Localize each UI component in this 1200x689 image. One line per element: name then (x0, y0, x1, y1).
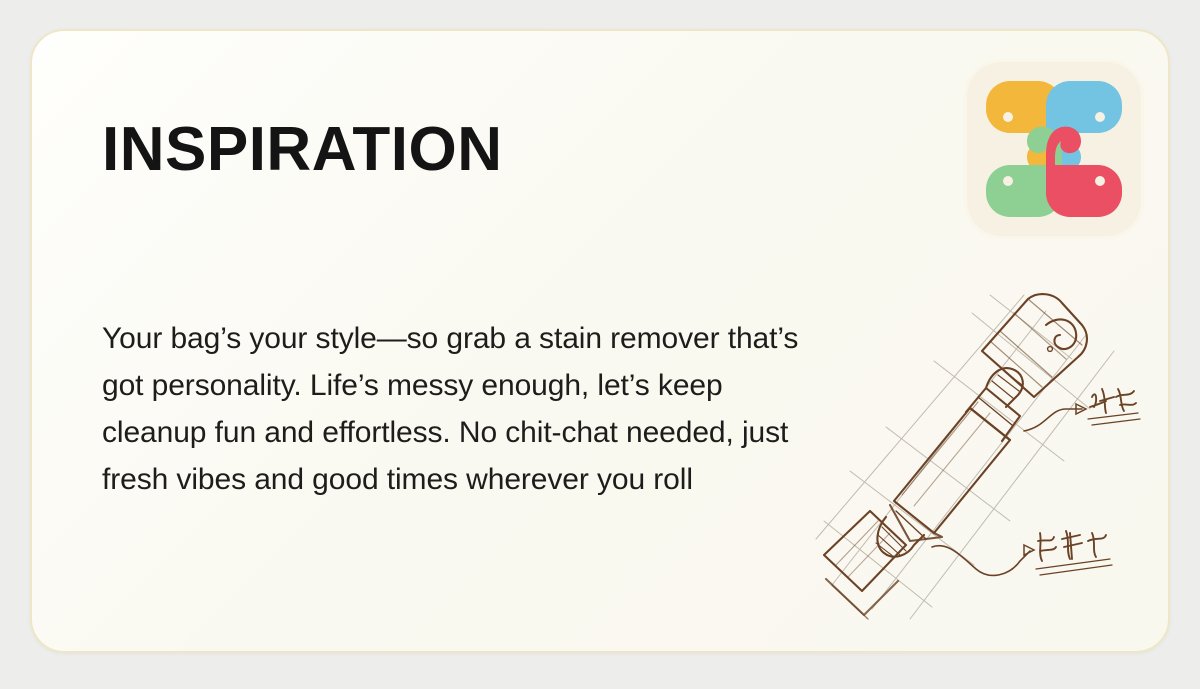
brand-logo (964, 59, 1144, 239)
eye-dot-red (1095, 176, 1105, 186)
card-content: INSPIRATION Your bag’s your style—so gra… (32, 31, 1168, 651)
logo-quadrant-red (1046, 127, 1122, 217)
page-root: INSPIRATION Your bag’s your style—so gra… (0, 0, 1200, 689)
annotation-label-lower (1036, 531, 1112, 575)
body-paragraph: Your bag’s your style—so grab a stain re… (102, 315, 822, 503)
annotation-label-upper (1088, 389, 1140, 425)
inspiration-card: INSPIRATION Your bag’s your style—so gra… (30, 29, 1170, 653)
annotation-arrowheads (1024, 404, 1086, 555)
page-title: INSPIRATION (102, 119, 502, 181)
pen-cap-ink (982, 294, 1087, 397)
eye-dot-blue (1095, 112, 1105, 122)
eye-dot-green (1003, 176, 1013, 186)
pen-base-ink (824, 511, 906, 619)
eye-dot-yellow (1003, 112, 1013, 122)
pen-body-ink (876, 368, 1023, 557)
product-sketch (814, 289, 1144, 619)
